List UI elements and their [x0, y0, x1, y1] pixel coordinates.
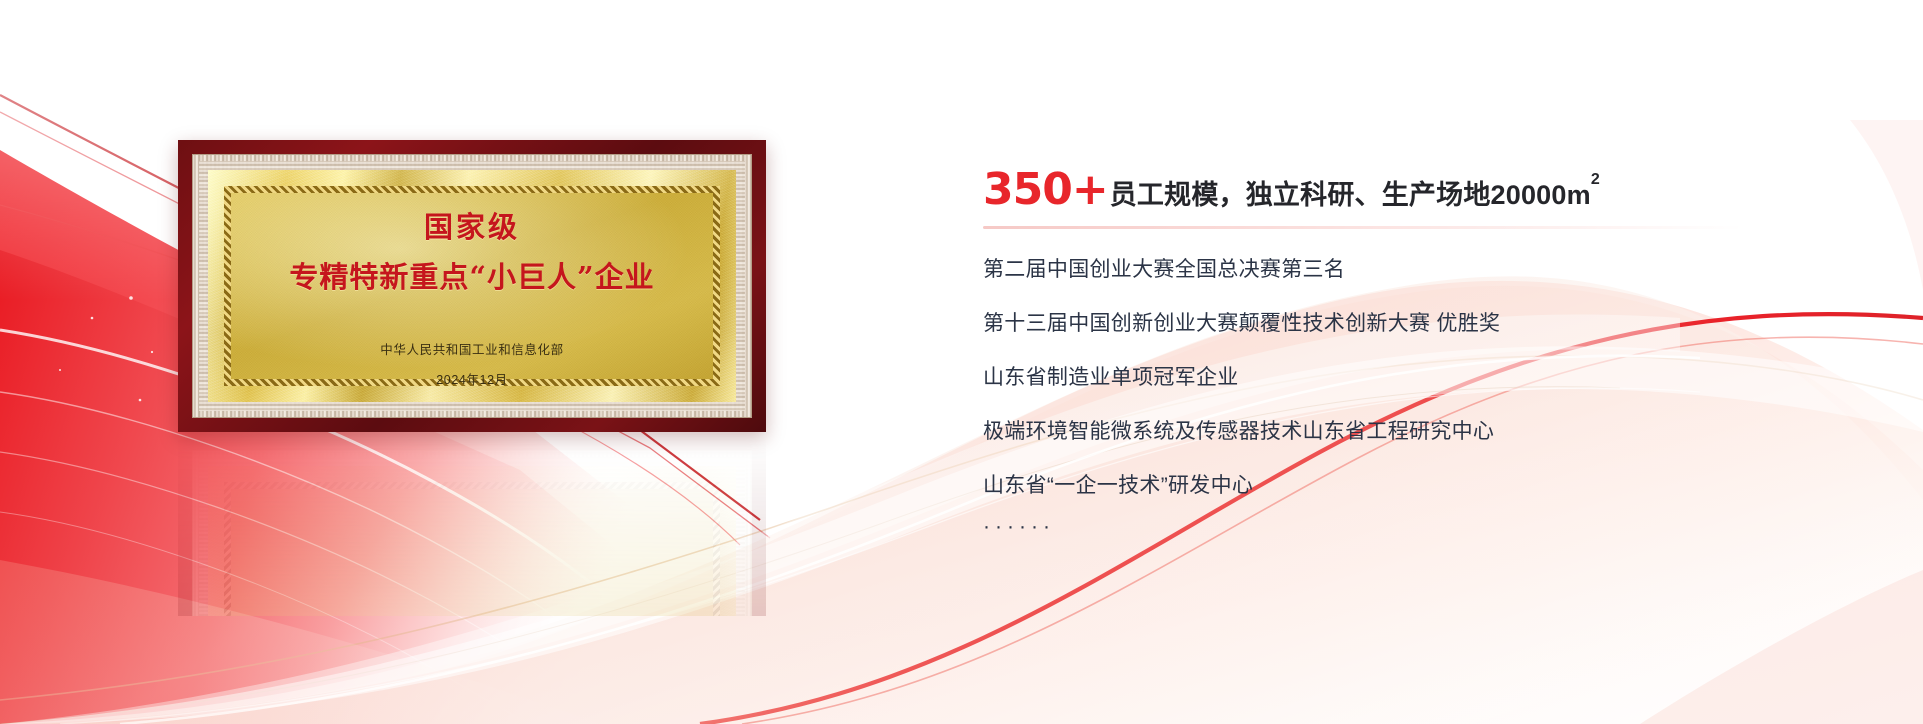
headline-text: 员工规模，独立科研、生产场地20000m2	[1110, 182, 1600, 209]
award-plaque: 国家级 专精特新重点“小巨人”企业 中华人民共和国工业和信息化部 2024年12…	[178, 140, 766, 432]
list-item: 第十三届中国创新创业大赛颠覆性技术创新大赛 优胜奖	[983, 313, 1883, 334]
list-item: 山东省制造业单项冠军企业	[983, 367, 1883, 388]
headline-superscript: 2	[1591, 171, 1600, 188]
plaque-title-line2: 专精特新重点“小巨人”企业	[289, 262, 654, 294]
list-item: 山东省“一企一技术”研发中心	[983, 475, 1883, 496]
plaque-issuer: 中华人民共和国工业和信息化部	[380, 339, 563, 358]
plaque-outer-frame: 国家级 专精特新重点“小巨人”企业 中华人民共和国工业和信息化部 2024年12…	[178, 140, 766, 432]
list-item: 第二届中国创业大赛全国总决赛第三名	[983, 259, 1883, 280]
plaque-gold-plate: 国家级 专精特新重点“小巨人”企业 中华人民共和国工业和信息化部 2024年12…	[208, 170, 736, 402]
plaque-text-block: 国家级 专精特新重点“小巨人”企业 中华人民共和国工业和信息化部 2024年12…	[208, 170, 736, 402]
headline-body: 员工规模，独立科研、生产场地20000m	[1110, 180, 1591, 210]
list-ellipsis: ······	[983, 515, 1883, 539]
plaque-date: 2024年12月	[436, 369, 508, 388]
content-column: 350+ 员工规模，独立科研、生产场地20000m2 第二届中国创业大赛全国总决…	[983, 168, 1883, 539]
plaque-title-line1: 国家级	[424, 212, 520, 244]
headline-number: 350+	[983, 168, 1108, 212]
list-item: 极端环境智能微系统及传感器技术山东省工程研究中心	[983, 421, 1883, 442]
headline-divider	[983, 226, 1743, 229]
headline: 350+ 员工规模，独立科研、生产场地20000m2	[983, 168, 1883, 212]
award-list: 第二届中国创业大赛全国总决赛第三名 第十三届中国创新创业大赛颠覆性技术创新大赛 …	[983, 259, 1883, 539]
promo-banner: 国家级 专精特新重点“小巨人”企业 中华人民共和国工业和信息化部 2024年12…	[0, 0, 1923, 724]
